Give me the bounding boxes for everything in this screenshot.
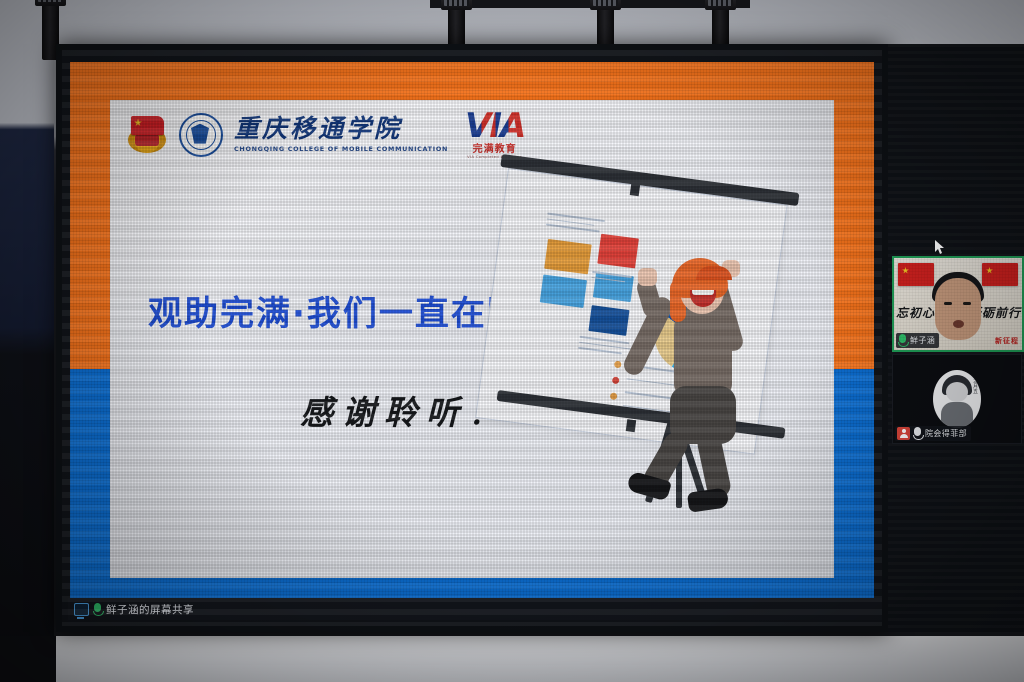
presentation-slide: 重庆移通学院 CHONGQING COLLEGE OF MOBILE COMMU… xyxy=(70,62,874,610)
microphone-icon xyxy=(93,603,102,616)
screen-share-banner: 鲜子涵的屏幕共享 xyxy=(68,598,882,620)
jumping-person-illustration xyxy=(630,254,780,524)
participant-name-chip: 院会得菲部 xyxy=(895,426,971,441)
board-rect-lightblue xyxy=(540,275,587,309)
shared-screen-content: 重庆移通学院 CHONGQING COLLEGE OF MOBILE COMMU… xyxy=(62,50,882,626)
floor-shadow xyxy=(0,636,56,682)
participant-tile-video-off[interactable]: 三月五 院会得菲部 xyxy=(892,354,1022,444)
participant-tile-active[interactable]: 忘初心 砥砺前行 新征程 鲜子涵 xyxy=(892,256,1024,352)
microphone-icon xyxy=(898,334,907,347)
party-flag-icon xyxy=(982,263,1018,286)
led-wall-screen: 重庆移通学院 CHONGQING COLLEGE OF MOBILE COMMU… xyxy=(56,44,888,632)
via-mark: VIA xyxy=(465,110,524,142)
party-flag-icon xyxy=(898,263,934,286)
participant-rail[interactable]: 忘初心 砥砺前行 新征程 鲜子涵 三月五 院会得 xyxy=(888,44,1024,632)
screenshot-root: 重庆移通学院 CHONGQING COLLEGE OF MOBILE COMMU… xyxy=(0,0,1024,682)
participant-name: 鲜子涵 xyxy=(910,335,935,346)
communist-youth-league-emblem-icon xyxy=(124,115,170,155)
slide-body: 重庆移通学院 CHONGQING COLLEGE OF MOBILE COMMU… xyxy=(110,100,834,578)
board-rect-orange xyxy=(544,239,592,274)
university-name-cn: 重庆移通学院 xyxy=(234,116,448,141)
background-stamp-text: 新征程 xyxy=(995,336,1019,346)
screen-share-icon xyxy=(74,603,89,616)
microphone-icon xyxy=(913,427,922,440)
university-name-en: CHONGQING COLLEGE OF MOBILE COMMUNICATIO… xyxy=(234,145,448,153)
board-text-lines-top xyxy=(545,213,607,237)
left-wall-panel xyxy=(0,0,54,682)
university-shield-badge-icon xyxy=(179,113,223,157)
board-rect-darkblue xyxy=(588,305,629,336)
slide-logo-bar: 重庆移通学院 CHONGQING COLLEGE OF MOBILE COMMU… xyxy=(124,110,524,159)
background-calligraphy-left: 忘初心 xyxy=(896,304,935,321)
avatar: 三月五 xyxy=(933,370,981,428)
person-badge-icon xyxy=(897,427,910,440)
slide-illustration xyxy=(490,146,830,566)
screen-share-label: 鲜子涵的屏幕共享 xyxy=(106,602,194,617)
floor xyxy=(52,636,1024,682)
participant-name: 院会得菲部 xyxy=(925,428,967,439)
university-name-block: 重庆移通学院 CHONGQING COLLEGE OF MOBILE COMMU… xyxy=(234,116,448,153)
participant-name-chip: 鲜子涵 xyxy=(896,333,939,348)
